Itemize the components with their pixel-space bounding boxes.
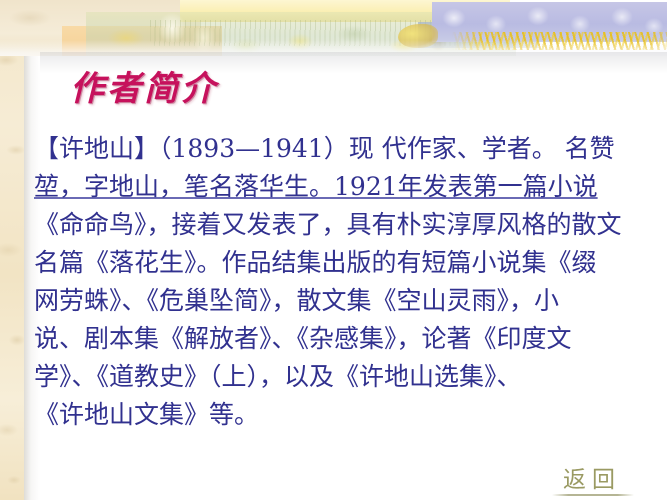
body-line: 《许地山文集》等。: [34, 396, 646, 434]
return-button[interactable]: 返回: [556, 466, 628, 494]
slide-canvas: 作者简介 【许地山】（1893—1941）现 代作家、学者。 名赞 堃，字地山，…: [0, 0, 667, 500]
body-text-block: 【许地山】（1893—1941）现 代作家、学者。 名赞 堃，字地山，笔名落华生…: [34, 130, 646, 434]
page-title: 作者简介: [70, 70, 218, 108]
body-line: 【许地山】（1893—1941）现 代作家、学者。 名赞: [34, 130, 646, 168]
return-button-underline: [552, 494, 634, 496]
body-line: 说、剧本集《解放者》、《杂感集》，论著《印度文: [34, 320, 646, 358]
body-line: 学》、《道教史》（上），以及《许地山选集》、: [34, 358, 646, 396]
decorative-banner: [0, 0, 667, 56]
body-line: 《命命鸟》，接着又发表了，具有朴实淳厚风格的散文: [34, 206, 646, 244]
body-line: 堃，字地山，笔名落华生。1921年发表第一篇小说: [34, 168, 646, 206]
body-line: 网劳蛛》、《危巢坠简》，散文集《空山灵雨》，小: [34, 282, 646, 320]
body-line: 名篇《落花生》。作品结集出版的有短篇小说集《缀: [34, 244, 646, 282]
left-texture-strip: [0, 0, 24, 500]
